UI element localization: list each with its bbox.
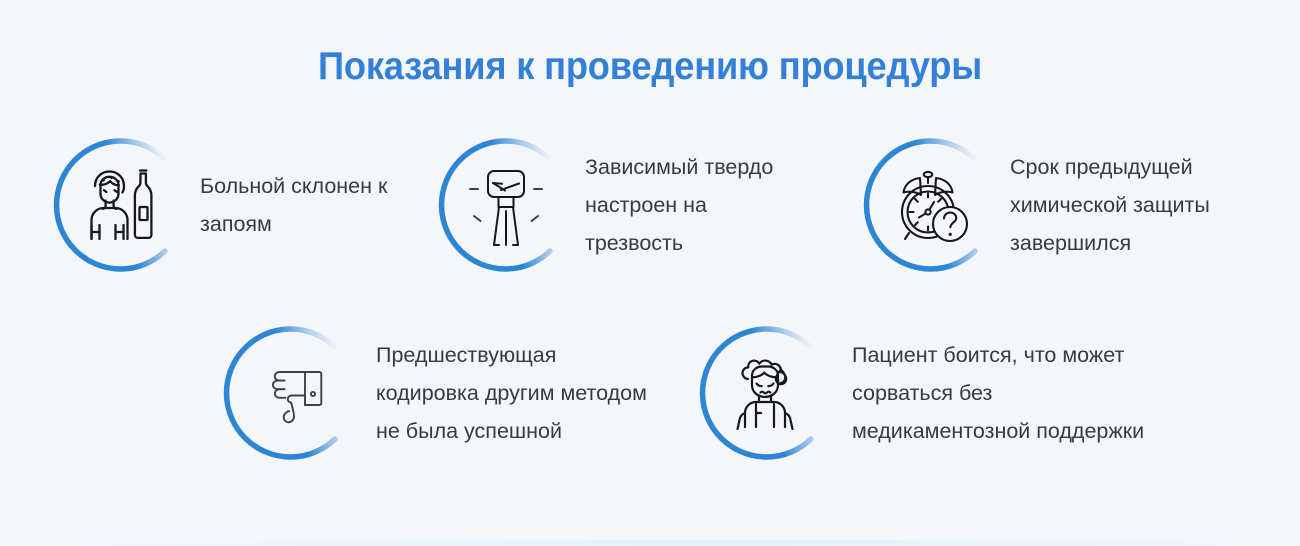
indication-text-5: Пациент боится, что может сорваться без …: [852, 336, 1212, 450]
icon-ring-5: [698, 324, 836, 462]
page-title: Показания к проведению процедуры: [46, 44, 1255, 90]
alarm-clock-question-icon: [862, 136, 1000, 274]
thumbs-down-icon: [222, 324, 360, 462]
determined-person-icon: [437, 136, 575, 274]
bottom-edge-band: [0, 540, 1300, 546]
worried-person-icon: [698, 324, 836, 462]
indication-item-fear-of-relapse: Пациент боится, что может сорваться без …: [698, 324, 1212, 462]
indication-text-4: Предшествующая кодировка другим методом …: [376, 336, 716, 450]
icon-ring-4: [222, 324, 360, 462]
indication-item-previous-coding-failed: Предшествующая кодировка другим методом …: [222, 324, 716, 462]
indication-text-2: Зависимый твердо настроен на трезвость: [585, 148, 810, 262]
indication-text-1: Больной склонен к запоям: [200, 167, 430, 243]
indication-item-firm-sobriety: Зависимый твердо настроен на трезвость: [437, 136, 810, 274]
top-edge-hairline: [0, 0, 1300, 2]
indication-text-3: Срок предыдущей химической защиты заверш…: [1010, 148, 1265, 262]
indication-item-previous-protection-expired: Срок предыдущей химической защиты заверш…: [862, 136, 1265, 274]
icon-ring-1: [52, 136, 190, 274]
indication-item-binge-prone: Больной склонен к запоям: [52, 136, 430, 274]
infographic-canvas: Показания к проведению процедуры: [0, 0, 1300, 546]
icon-ring-2: [437, 136, 575, 274]
man-with-bottle-icon: [52, 136, 190, 274]
icon-ring-3: [862, 136, 1000, 274]
